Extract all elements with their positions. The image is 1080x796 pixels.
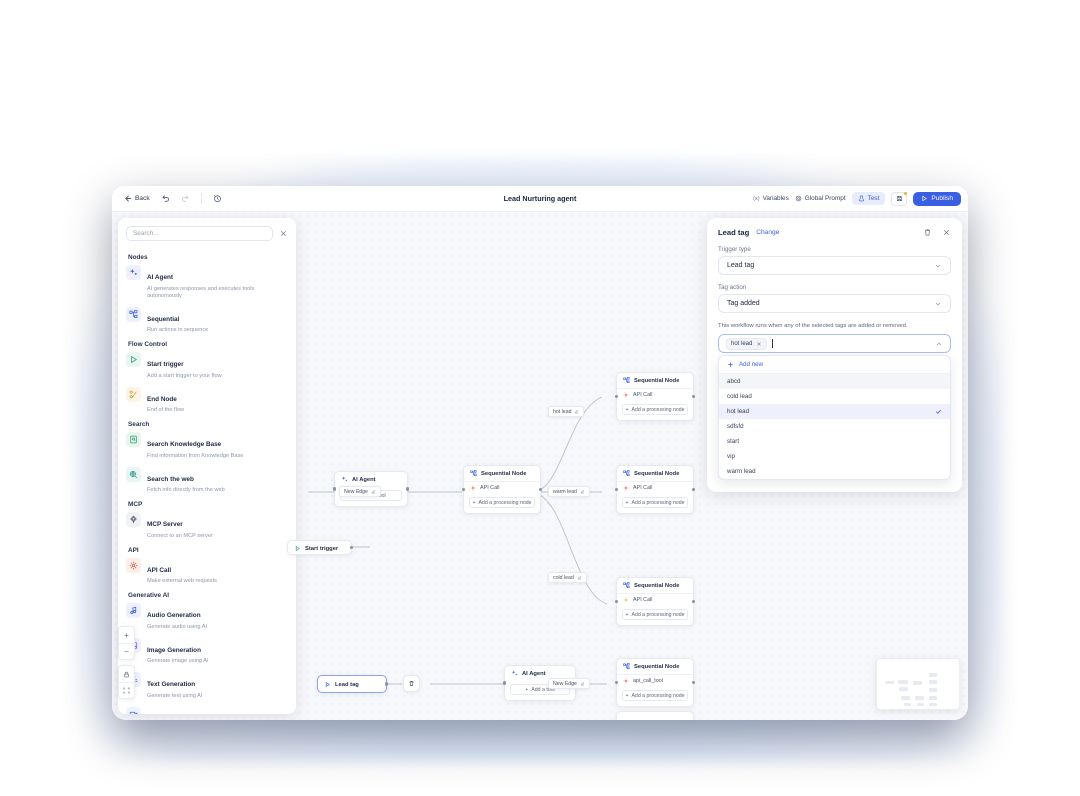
edge-label-new-edge-1[interactable]: New Edge [339,486,381,497]
plus-icon: + [472,500,475,506]
edge-label-hot-lead[interactable]: hot lead [548,406,584,417]
plus-icon: + [625,693,628,699]
toolbar-divider [201,193,202,204]
library-item-name: Text Generation [147,681,195,688]
tag-action-value: Tag added [727,300,760,307]
add-processing-label: Add a processing node [631,612,684,618]
undo-icon [161,194,170,203]
node-header: Sequential Node [617,659,693,674]
play-icon [126,352,141,367]
add-processing-node-button[interactable]: + Add a processing node [622,404,688,415]
port-out[interactable] [406,487,409,490]
library-item-name: AI Agent [147,274,173,281]
add-processing-node-button[interactable]: + Add a processing node [622,690,688,701]
trigger-type-label: Trigger type [718,246,951,253]
node-title: Sequential Node [634,378,679,384]
api-icon [470,485,476,491]
library-item-desc: Find information from Knowledge Base [147,453,243,460]
library-item-text: API CallMake external web requests [147,558,217,586]
library-group-heading: Search [128,421,288,428]
node-sequential-warm[interactable]: Sequential Node API Call + Add a process… [616,465,694,514]
save-icon [896,195,903,202]
zoom-controls: + − [118,626,135,660]
edit-icon[interactable] [371,489,376,494]
library-item-name: Search the web [147,476,194,483]
library-item-text: End NodeEnd of the flow [147,387,184,415]
close-icon[interactable] [942,228,951,237]
edge-label-text: cold lead [553,575,574,581]
node-step-api-call-tool[interactable]: api_call_tool [617,674,693,687]
panel-actions [923,228,951,237]
remove-tag-icon[interactable] [756,341,762,347]
node-header: Sequential Node [464,466,540,481]
node-step-api-call[interactable]: API Call [464,481,540,494]
sparkle-icon [511,670,518,677]
play-icon [324,681,331,688]
lock-icon [123,671,130,678]
port-out[interactable] [350,546,353,549]
view-controls [118,665,135,699]
port-out[interactable] [539,488,542,491]
tag-option-label: warm lead [727,468,756,475]
test-label: Test [868,195,880,202]
panel-title: Lead tag [718,228,749,237]
edit-icon[interactable] [574,409,579,414]
tag-option[interactable]: sdfsfd [719,419,950,434]
music-icon [126,603,141,618]
edge-label-text: New Edge [553,681,577,687]
node-title: Sequential Node [634,471,679,477]
library-item-name: MCP Server [147,521,183,528]
back-label: Back [135,195,150,202]
top-toolbar: Back Lead Nurturing agent [112,186,968,212]
tag-option-label: sdfsfd [727,423,744,430]
trigger-config-panel: Lead tag Change Trigger type Lead tag [707,218,962,492]
search-input[interactable]: Search... [126,226,273,241]
add-processing-node-button[interactable]: + Add a processing node [622,497,688,508]
tag-option-list: abcdcold leadhot leadsdfsfdstartvipwarm … [719,374,950,479]
flow-icon [623,663,630,670]
chevron-down-icon [934,262,942,270]
library-item-text: AI AgentAI generates responses and execu… [147,265,285,300]
node-title: Sequential Node [634,664,679,670]
edit-icon[interactable] [577,575,582,580]
flow-icon [623,582,630,589]
node-step-api-call[interactable]: API Call [617,593,693,606]
library-item-text: Search Knowledge BaseFind information fr… [147,432,243,460]
change-link[interactable]: Change [756,229,779,236]
library-item-text: Video Generation [147,707,200,715]
library-item-api-call[interactable]: API CallMake external web requests [126,558,288,586]
edit-icon[interactable] [580,489,585,494]
chevron-down-icon [934,300,942,308]
api-icon [623,678,629,684]
end-icon [126,387,141,402]
publish-label: Publish [931,195,953,202]
library-search-row: Search... [118,218,296,247]
tag-option[interactable]: warm lead [719,464,950,479]
library-group-heading: API [128,547,288,554]
node-library-panel: Search... NodesAI AgentAI generates resp… [118,218,296,714]
node-sequential-hot[interactable]: Sequential Node API Call + Add a process… [616,372,694,421]
library-item-name: Audio Generation [147,612,201,619]
library-item-desc: End of the flow [147,407,184,414]
library-group-heading: Nodes [128,254,288,261]
edge-label-cold-lead[interactable]: cold lead [548,572,587,583]
tag-action-select[interactable]: Tag added [718,294,951,313]
library-item-sequential[interactable]: SequentialRun actions in sequence [126,307,288,335]
fit-view-button[interactable] [119,682,134,698]
node-sequential-cold[interactable]: Sequential Node API Call + Add a process… [616,577,694,626]
library-item-text: SequentialRun actions in sequence [147,307,208,335]
save-button[interactable] [891,192,907,206]
redo-button[interactable] [177,192,194,205]
node-title: Sequential Node [634,583,679,589]
library-item-end-node[interactable]: End NodeEnd of the flow [126,387,288,415]
library-item-text: Search the webFetch info directly from t… [147,467,225,495]
minimap[interactable] [876,658,960,710]
node-step-api-call[interactable]: API Call [617,388,693,401]
node-title: Start trigger [305,546,338,552]
library-item-name: API Call [147,567,171,574]
step-label: API Call [633,597,652,603]
port-out[interactable] [692,681,695,684]
trigger-type-value: Lead tag [727,262,754,269]
trigger-type-select[interactable]: Lead tag [718,256,951,275]
flow-icon [470,470,477,477]
flow-canvas[interactable]: Search... NodesAI AgentAI generates resp… [112,212,968,720]
library-item-mcp-server[interactable]: MCP ServerConnect to an MCP server [126,512,288,540]
library-group-heading: Generative AI [128,592,288,599]
mcp-icon [126,512,141,527]
node-header: Sequential Node [617,578,693,593]
chip-label: hot lead [731,341,752,347]
plus-icon [727,361,734,368]
library-item-image-generation[interactable]: Image GenerationGenerate image using AI [126,638,288,666]
port-out[interactable] [385,682,388,685]
edge-label-text: hot lead [553,409,571,415]
library-item-desc: Connect to an MCP server [147,533,213,540]
edge-label-text: New Edge [344,489,368,495]
library-item-audio-generation[interactable]: Audio GenerationGenerate audio using AI [126,603,288,631]
tag-option[interactable]: abcd [719,374,950,389]
edge-label-text: warm lead [553,489,577,495]
play-icon [294,545,301,552]
step-label: API Call [633,485,652,491]
edge-label-warm-lead[interactable]: warm lead [548,486,590,497]
book-icon [126,432,141,447]
api-icon [623,485,629,491]
port-in[interactable] [333,487,336,490]
node-sequential-center[interactable]: Sequential Node API Call + Add a process… [463,465,541,514]
tag-option-label: abcd [727,378,740,385]
global-prompt-button[interactable]: Global Prompt [795,195,846,202]
add-processing-label: Add a processing node [631,693,684,699]
redo-icon [181,194,190,203]
library-item-search-the-web[interactable]: Search the webFetch info directly from t… [126,467,288,495]
history-button[interactable] [209,192,226,205]
port-out[interactable] [692,600,695,603]
library-item-text: Image GenerationGenerate image using AI [147,638,209,666]
node-lead-tag[interactable]: Lead tag [317,675,387,693]
add-processing-label: Add a processing node [478,500,531,506]
check-icon [935,408,942,415]
zoom-out-button[interactable]: − [119,643,134,659]
back-button[interactable]: Back [119,192,154,205]
port-out[interactable] [692,488,695,491]
api-icon [623,392,629,398]
tag-option-label: start [727,438,739,445]
library-item-desc: Add a start trigger to your flow [147,373,222,380]
library-item-text: Audio GenerationGenerate audio using AI [147,603,207,631]
flow-icon [623,470,630,477]
library-item-search-knowledge-base[interactable]: Search Knowledge BaseFind information fr… [126,432,288,460]
page-title: Agent Studio Triggers [0,16,1080,104]
add-new-label: Add new [739,361,763,368]
add-new-tag-button[interactable]: Add new [719,356,950,374]
node-title: AI Agent [352,477,376,483]
tag-multiselect-input[interactable]: hot lead [718,334,951,353]
api-icon [126,558,141,573]
plus-icon: + [625,500,628,506]
arrow-left-icon [123,194,132,203]
add-processing-node-button[interactable]: + Add a processing node [622,609,688,620]
sparkle-icon [341,476,348,483]
video-icon [126,707,141,715]
node-title: Lead tag [335,682,359,688]
panel-header: Lead tag Change [718,228,951,237]
selected-tag-chip[interactable]: hot lead [726,338,767,350]
trash-icon [408,680,415,687]
tag-option[interactable]: cold lead [719,389,950,404]
step-label: API Call [480,485,499,491]
sparkle-icon [126,265,141,280]
tag-option[interactable]: start [719,434,950,449]
variables-button[interactable]: (x) Variables [753,195,789,202]
library-item-text: MCP ServerConnect to an MCP server [147,512,213,540]
library-group-heading: MCP [128,501,288,508]
close-icon[interactable] [279,229,288,238]
node-start-trigger[interactable]: Start trigger [287,540,352,555]
node-header: Lead tag [318,676,386,692]
tag-option-label: vip [727,453,735,460]
plus-icon: + [525,687,528,693]
node-header: Sequential Node [617,373,693,388]
add-processing-node-button[interactable]: + Add a processing node [469,497,535,508]
gear-icon [795,195,802,202]
tag-option[interactable]: hot lead [719,404,950,419]
tag-option[interactable]: vip [719,449,950,464]
undo-button[interactable] [157,192,174,205]
tag-option-label: cold lead [727,393,752,400]
library-item-text: Text GenerationGenerate text using AI [147,672,202,700]
step-label: API Call [633,392,652,398]
fit-view-icon [123,687,130,694]
tag-dropdown: Add new abcdcold leadhot leadsdfsfdstart… [718,355,951,480]
node-sequential-offscreen[interactable] [616,711,694,720]
library-item-desc: AI generates responses and executes tool… [147,286,285,300]
publish-button[interactable]: Publish [913,192,961,206]
library-list: NodesAI AgentAI generates responses and … [118,254,296,714]
api-icon [623,597,629,603]
library-item-start-trigger[interactable]: Start triggerAdd a start trigger to your… [126,352,288,380]
flask-icon [858,195,865,202]
step-label: api_call_tool [633,678,663,684]
canvas-controls: + − [118,626,135,704]
global-prompt-label: Global Prompt [805,195,846,202]
tag-action-label: Tag action [718,284,951,291]
add-processing-label: Add a processing node [631,407,684,413]
edit-icon[interactable] [580,681,585,686]
node-header: Start trigger [288,541,351,556]
port-out[interactable] [692,395,695,398]
flow-icon [623,377,630,384]
library-item-desc: Generate image using AI [147,658,209,665]
node-title: AI Agent [522,671,546,677]
variables-label: Variables [763,195,789,202]
lock-button[interactable] [119,666,134,682]
variables-prefix: (x) [753,196,760,202]
library-item-desc: Make external web requests [147,578,217,585]
trash-icon[interactable] [923,228,932,237]
tag-hint-text: This workflow runs when any of the selec… [718,322,951,330]
node-header: Sequential Node [617,466,693,481]
library-item-name: Sequential [147,316,179,323]
tag-option-label: hot lead [727,408,749,415]
delete-node-button[interactable] [403,675,420,692]
library-item-name: Image Generation [147,647,201,654]
add-processing-label: Add a processing node [631,500,684,506]
library-item-ai-agent[interactable]: AI AgentAI generates responses and execu… [126,265,288,300]
plus-icon: + [625,407,628,413]
library-item-text: Start triggerAdd a start trigger to your… [147,352,222,380]
library-item-name: Start trigger [147,361,184,368]
node-title: Sequential Node [481,471,526,477]
library-item-desc: Fetch info directly from the web [147,487,225,494]
library-item-desc: Generate text using AI [147,693,202,700]
plus-icon: + [625,612,628,618]
node-header: AI Agent [335,472,407,487]
node-sequential-bottom[interactable]: Sequential Node api_call_tool + Add a pr… [616,658,694,707]
zoom-in-button[interactable]: + [119,627,134,643]
node-step-api-call[interactable]: API Call [617,481,693,494]
library-item-desc: Generate audio using AI [147,624,207,631]
globe-search-icon [126,467,141,482]
edge-label-new-edge-2[interactable]: New Edge [548,678,590,689]
publish-icon [921,195,928,202]
chevron-up-icon[interactable] [935,340,943,348]
app-window: Back Lead Nurturing agent [112,186,968,720]
test-button[interactable]: Test [852,192,886,205]
library-item-name: End Node [147,396,177,403]
library-item-video-generation[interactable]: Video Generation [126,707,288,715]
flow-icon [126,307,141,322]
text-caret [772,339,773,348]
library-item-text-generation[interactable]: Text GenerationGenerate text using AI [126,672,288,700]
library-item-desc: Run actions in sequence [147,327,208,334]
port-in[interactable] [503,681,506,684]
history-icon [213,194,222,203]
library-group-heading: Flow Control [128,341,288,348]
library-item-name: Search Knowledge Base [147,441,221,448]
